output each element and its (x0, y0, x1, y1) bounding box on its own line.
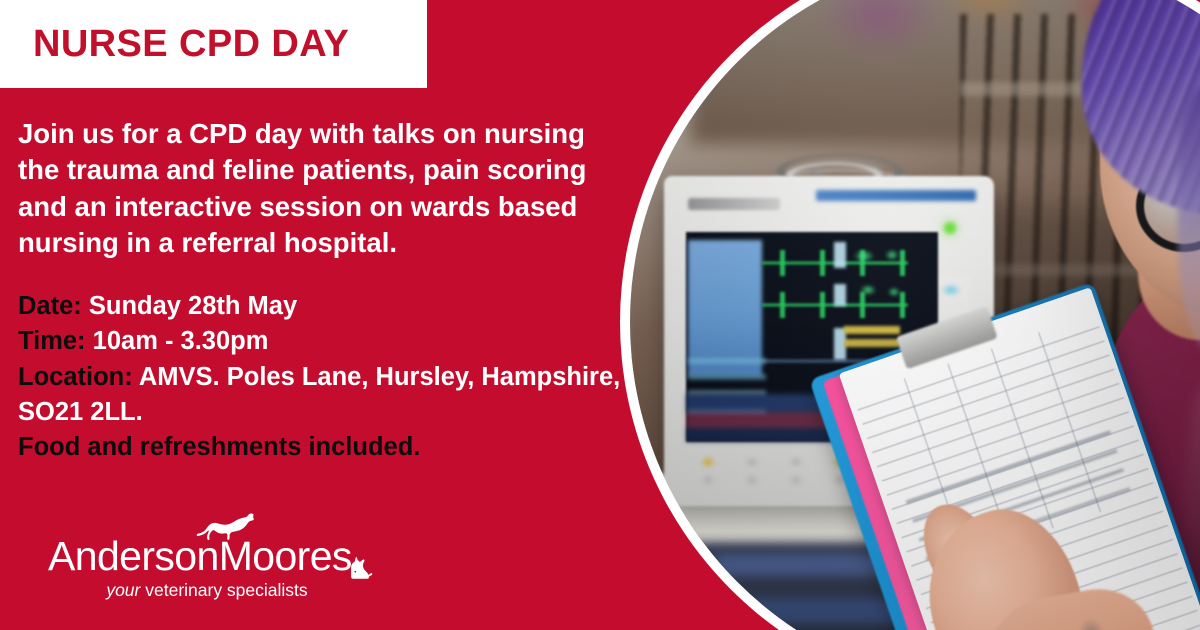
poster-canvas: NURSE CPD DAY Join us for a CPD day with… (0, 0, 1200, 630)
logo-wordmark-row: AndersonMoores (48, 536, 366, 577)
screen-left-panel (688, 240, 762, 376)
monitor-power-led (944, 222, 956, 234)
brand-logo[interactable]: AndersonMoores your veterinary specialis… (48, 536, 366, 600)
time-value: 10am - 3.30pm (93, 327, 269, 355)
detail-time: Time: 10am - 3.30pm (18, 324, 628, 359)
intro-paragraph: Join us for a CPD day with talks on nurs… (18, 116, 628, 261)
nurse-monitor-photo (630, 0, 1200, 630)
detail-location: Location: AMVS. Poles Lane, Hursley, Ham… (18, 360, 628, 430)
detail-date: Date: Sunday 28th May (18, 289, 628, 324)
sitting-cat-icon (344, 557, 374, 579)
time-label: Time: (18, 327, 86, 355)
screen-green-readouts (852, 246, 914, 312)
logo-tagline: your veterinary specialists (48, 582, 366, 600)
monitor-brand-label (688, 198, 780, 210)
photo-circle-clip (630, 0, 1200, 630)
leaping-dog-icon (196, 512, 256, 540)
detail-food-note: Food and refreshments included. (18, 430, 628, 465)
date-value: Sunday 28th May (89, 292, 297, 320)
logo-tagline-italic: your (106, 580, 140, 600)
logo-tagline-rest: veterinary specialists (140, 580, 307, 600)
location-label: Location: (18, 363, 133, 391)
logo-wordmark: AndersonMoores (48, 536, 352, 577)
date-label: Date: (18, 292, 82, 320)
copy-block: Join us for a CPD day with talks on nurs… (18, 116, 628, 465)
title-banner: NURSE CPD DAY (0, 0, 427, 88)
event-details: Date: Sunday 28th May Time: 10am - 3.30p… (18, 289, 628, 465)
screen-yellow-readout (844, 326, 900, 352)
page-title: NURSE CPD DAY (33, 25, 349, 63)
monitor-blue-stripe (816, 190, 976, 201)
